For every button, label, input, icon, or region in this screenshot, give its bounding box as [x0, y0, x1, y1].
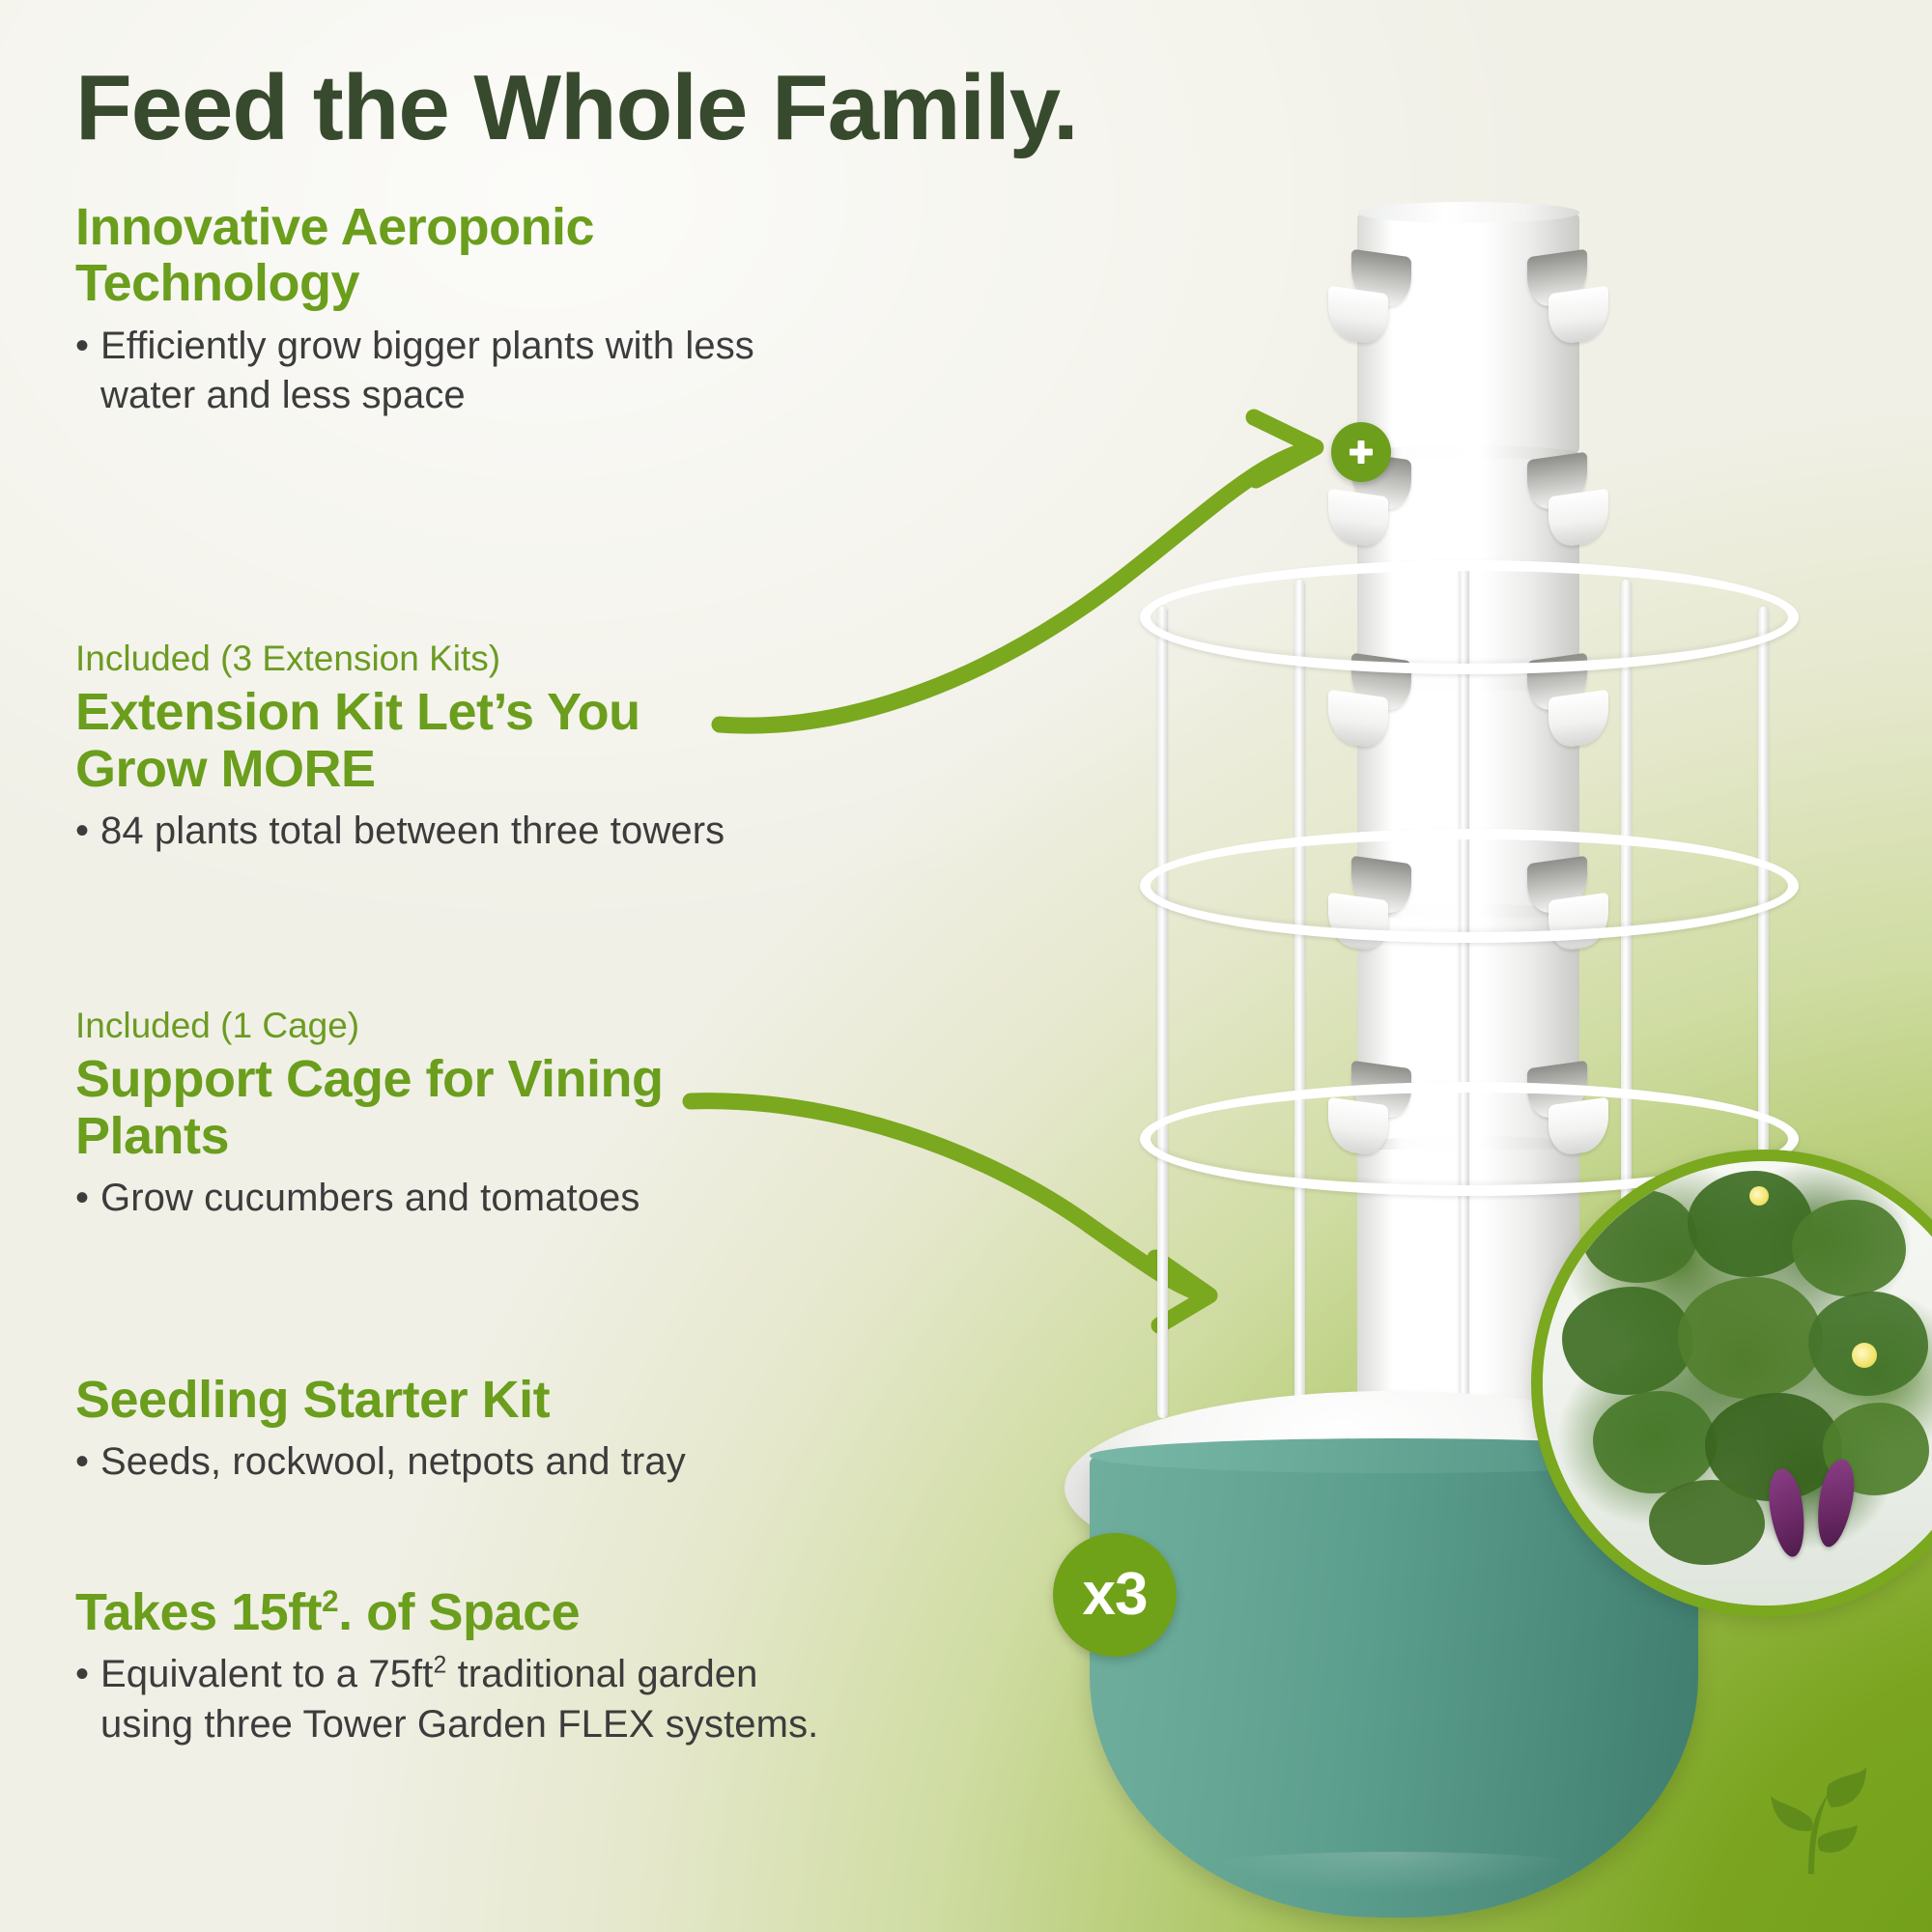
leaf-sprout-icon — [1733, 1741, 1878, 1886]
list-item-text: using three Tower Garden FLEX systems. — [100, 1700, 818, 1749]
leaf-shape — [1792, 1200, 1906, 1296]
feature-bullets: • Grow cucumbers and tomatoes — [75, 1174, 906, 1223]
bullet-marker: • — [75, 1650, 100, 1699]
tower-cap — [1357, 202, 1579, 223]
plant-port — [1548, 286, 1608, 347]
plant-port — [1328, 286, 1388, 347]
list-item: • 84 plants total between three towers — [75, 807, 906, 856]
feature-kicker: Included (3 Extension Kits) — [75, 638, 906, 680]
list-item: • Seeds, rockwool, netpots and tray — [75, 1437, 925, 1487]
list-item-text: Seeds, rockwool, netpots and tray — [100, 1437, 686, 1487]
feature-heading-prefix: Takes 15ft — [75, 1583, 322, 1641]
feature-block-seedling-kit: Seedling Starter Kit • Seeds, rockwool, … — [75, 1372, 925, 1488]
feature-heading-suffix: . of Space — [338, 1583, 580, 1641]
list-item: • Efficiently grow bigger plants with le… — [75, 322, 848, 420]
bullet-marker: • — [75, 807, 100, 856]
status-badge-multiplier: x3 — [1053, 1533, 1177, 1657]
feature-kicker: Included (1 Cage) — [75, 1005, 906, 1047]
feature-block-aeroponic: Innovative Aeroponic Technology • Effici… — [75, 199, 848, 420]
leaf-shape — [1649, 1480, 1765, 1565]
infographic-canvas: Feed the Whole Family. Innovative Aeropo… — [0, 0, 1932, 1932]
cage-ring — [1140, 560, 1799, 674]
feature-block-footprint: Takes 15ft2. of Space • Equivalent to a … — [75, 1584, 989, 1749]
feature-bullets: • Seeds, rockwool, netpots and tray — [75, 1437, 925, 1487]
page-title: Feed the Whole Family. — [75, 60, 1078, 157]
feature-block-extension-kit: Included (3 Extension Kits) Extension Ki… — [75, 638, 906, 856]
inset-photo — [1543, 1161, 1932, 1605]
list-item-text: Equivalent to a 75ft2 traditional garden — [100, 1650, 758, 1699]
leaf-shape — [1593, 1391, 1717, 1493]
bullet-marker: • — [75, 322, 100, 371]
aeroponic-tower-image: x3 — [1082, 145, 1835, 1884]
leaf-shape — [1581, 1190, 1697, 1283]
cage-bar — [1157, 607, 1168, 1418]
bullet-marker: • — [75, 1174, 100, 1223]
feature-bullets: • Equivalent to a 75ft2 traditional gard… — [75, 1650, 989, 1748]
plant-port — [1548, 489, 1608, 550]
bullet-marker: • — [75, 1437, 100, 1487]
feature-bullets: • Efficiently grow bigger plants with le… — [75, 322, 848, 420]
feature-heading: Support Cage for Vining Plants — [75, 1051, 694, 1164]
list-item-text: 84 plants total between three towers — [100, 807, 724, 856]
blossom-icon — [1749, 1186, 1769, 1206]
feature-bullets: • 84 plants total between three towers — [75, 807, 906, 856]
status-badge-label: x3 — [1083, 1565, 1148, 1625]
status-badge-plus — [1331, 422, 1391, 482]
list-item-text-suffix: traditional garden — [446, 1653, 757, 1695]
feature-block-support-cage: Included (1 Cage) Support Cage for Vinin… — [75, 1005, 906, 1223]
feature-heading-superscript: 2 — [322, 1584, 338, 1618]
list-item-text: Grow cucumbers and tomatoes — [100, 1174, 640, 1223]
list-item: • Equivalent to a 75ft2 traditional gard… — [75, 1650, 964, 1699]
feature-heading: Extension Kit Let’s You Grow MORE — [75, 684, 752, 797]
tower-segment — [1357, 213, 1579, 454]
plus-icon — [1345, 436, 1378, 469]
blossom-icon — [1852, 1343, 1877, 1368]
cage-ring — [1140, 829, 1799, 943]
feature-heading: Takes 15ft2. of Space — [75, 1584, 945, 1640]
cage-bar — [1459, 568, 1469, 1428]
feature-heading: Seedling Starter Kit — [75, 1372, 848, 1428]
cage-bar — [1294, 580, 1305, 1430]
plant-port — [1328, 489, 1388, 550]
list-item-text: Efficiently grow bigger plants with less… — [100, 322, 848, 420]
list-item-continuation: using three Tower Garden FLEX systems. — [75, 1700, 989, 1749]
feature-heading: Innovative Aeroponic Technology — [75, 199, 829, 312]
list-item: • Grow cucumbers and tomatoes — [75, 1174, 906, 1223]
leaf-shape — [1562, 1287, 1693, 1395]
list-item-superscript: 2 — [433, 1653, 446, 1679]
list-item-text-prefix: Equivalent to a 75ft — [100, 1653, 433, 1695]
leaf-shape — [1678, 1277, 1823, 1399]
